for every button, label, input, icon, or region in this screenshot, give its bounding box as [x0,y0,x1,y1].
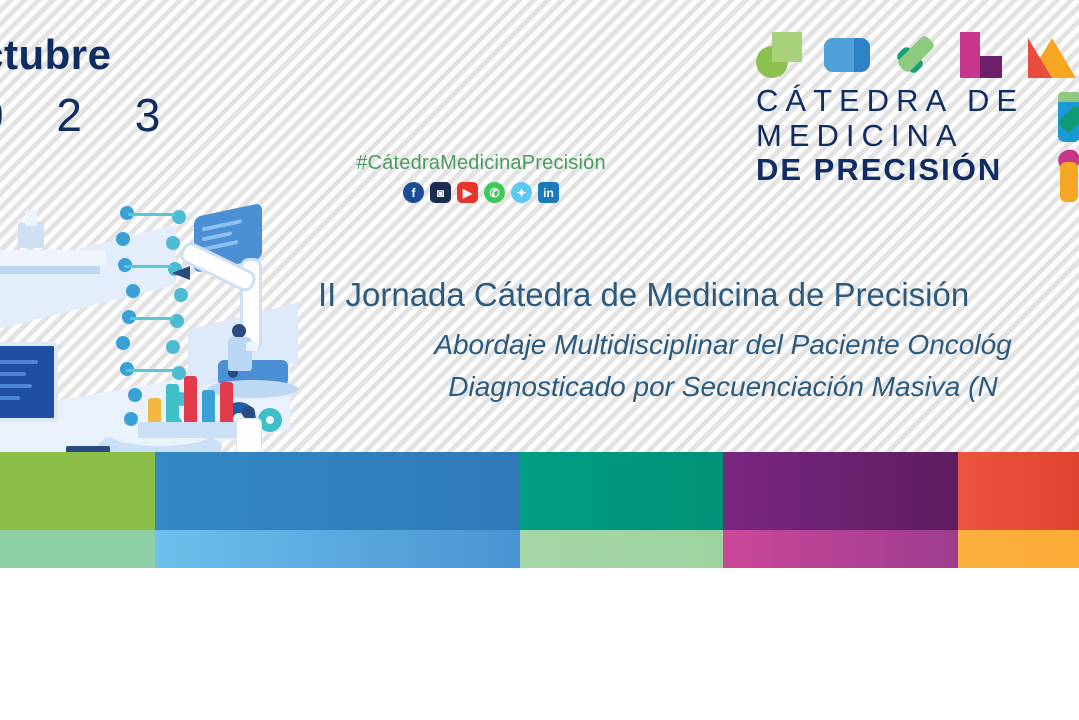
catedra-logo-line1: CÁTEDRA DE [756,84,1076,119]
hashtag-block: #CátedraMedicinaPrecisión f ◙ ▶ ✆ ✦ in [331,152,631,203]
edge-mark-teal-icon [1058,92,1079,142]
page-subtitle-line1: Abordaje Multidisciplinar del Paciente O… [318,327,1079,363]
facebook-icon[interactable]: f [403,182,424,203]
catedra-logo: CÁTEDRA DE MEDICINA DE PRECISIÓN [756,30,1076,188]
page-title: II Jornada Cátedra de Medicina de Precis… [318,275,1079,315]
catedra-logo-icons [756,30,1076,78]
linkedin-icon[interactable]: in [538,182,559,203]
test-tube-rack [138,362,248,438]
event-date-year: 0 2 3 [0,92,180,138]
poblacional-mark [1028,32,1076,78]
twitter-icon[interactable]: ✦ [511,182,532,203]
band-predictiva [155,452,520,568]
dna-monitor [0,342,58,422]
page-subtitle-line2: Diagnosticado por Secuenciación Masiva (… [318,369,1079,405]
instagram-icon[interactable]: ◙ [430,182,451,203]
footer: oche Personalizada [0,568,1079,720]
band-participativa [723,452,958,568]
personalizada-mark [756,32,804,78]
lab-desk [0,216,116,286]
whatsapp-icon[interactable]: ✆ [484,182,505,203]
predictiva-mark [824,32,872,78]
hashtag-text: #CátedraMedicinaPrecisión [331,152,631,175]
title-block: II Jornada Cátedra de Medicina de Precis… [318,275,1079,405]
edge-mark-pink-icon [1058,150,1079,200]
social-links[interactable]: f ◙ ▶ ✆ ✦ in [331,182,631,203]
event-date: octubre 0 2 3 [0,34,180,138]
poster-root: octubre 0 2 3 #CátedraMedicinaPrecisión … [0,0,1079,720]
band-preventiva [520,452,723,568]
catedra-logo-line3: DE PRECISIÓN [756,153,1076,188]
color-band-strip [0,452,1079,568]
event-date-month: octubre [0,34,180,76]
edge-logo-marks [1058,92,1079,208]
band-personalizada [0,452,155,568]
participativa-mark [960,32,1008,78]
catedra-logo-line2: MEDICINA [756,119,1076,154]
lab-illustration [0,196,296,456]
band-poblacional [958,452,1079,568]
preventiva-mark [892,32,940,78]
youtube-icon[interactable]: ▶ [457,182,478,203]
